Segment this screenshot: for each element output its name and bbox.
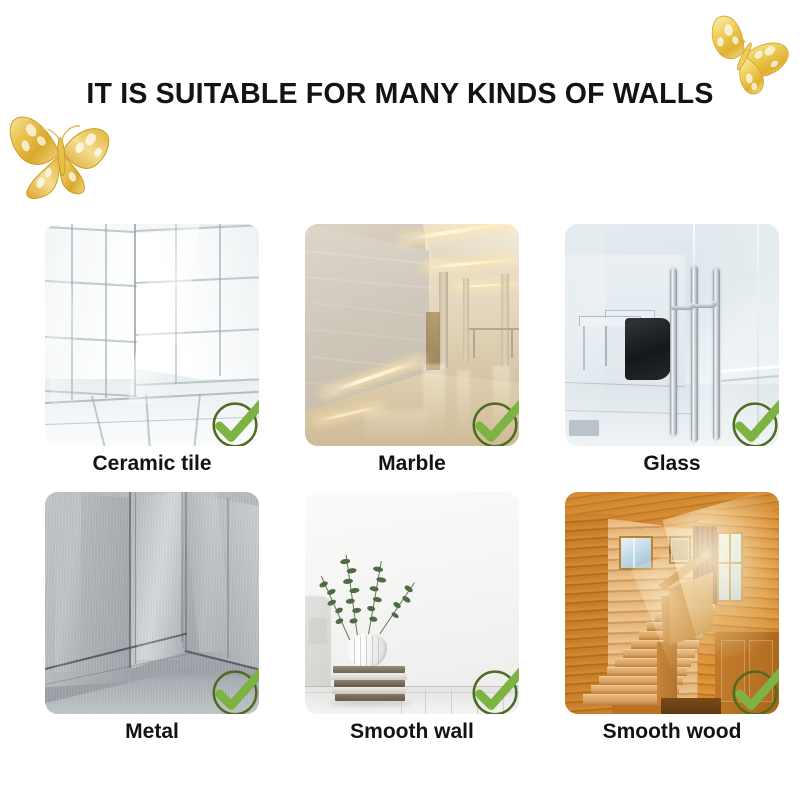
check-circle-icon <box>207 394 259 446</box>
surface-card-smooth-wall[interactable]: Smooth wall <box>305 492 519 754</box>
check-circle-icon <box>207 662 259 714</box>
page-title: IT IS SUITABLE FOR MANY KINDS OF WALLS <box>0 78 800 111</box>
surface-card-marble[interactable]: Marble <box>305 224 519 486</box>
surface-card-metal[interactable]: Metal <box>45 492 259 754</box>
surface-label-smooth-wood: Smooth wood <box>565 720 779 744</box>
check-circle-icon <box>467 662 519 714</box>
surface-photo-ceramic-tile <box>45 224 259 446</box>
surface-photo-smooth-wall <box>305 492 519 714</box>
surface-card-glass[interactable]: Glass <box>565 224 779 486</box>
check-circle-icon <box>727 394 779 446</box>
surface-photo-metal <box>45 492 259 714</box>
surface-photo-smooth-wood <box>565 492 779 714</box>
surface-label-metal: Metal <box>45 720 259 744</box>
surface-card-smooth-wood[interactable]: Smooth wood <box>565 492 779 754</box>
infographic-page: IT IS SUITABLE FOR MANY KINDS OF WALLS <box>0 0 800 800</box>
surface-photo-glass <box>565 224 779 446</box>
surface-label-smooth-wall: Smooth wall <box>305 720 519 744</box>
surface-label-marble: Marble <box>305 452 519 476</box>
check-circle-icon <box>727 662 779 714</box>
surface-photo-marble <box>305 224 519 446</box>
surface-label-glass: Glass <box>565 452 779 476</box>
header: IT IS SUITABLE FOR MANY KINDS OF WALLS <box>0 0 800 200</box>
surface-grid: Ceramic tile <box>0 224 800 784</box>
surface-label-ceramic-tile: Ceramic tile <box>45 452 259 476</box>
check-circle-icon <box>467 394 519 446</box>
surface-card-ceramic-tile[interactable]: Ceramic tile <box>45 224 259 486</box>
